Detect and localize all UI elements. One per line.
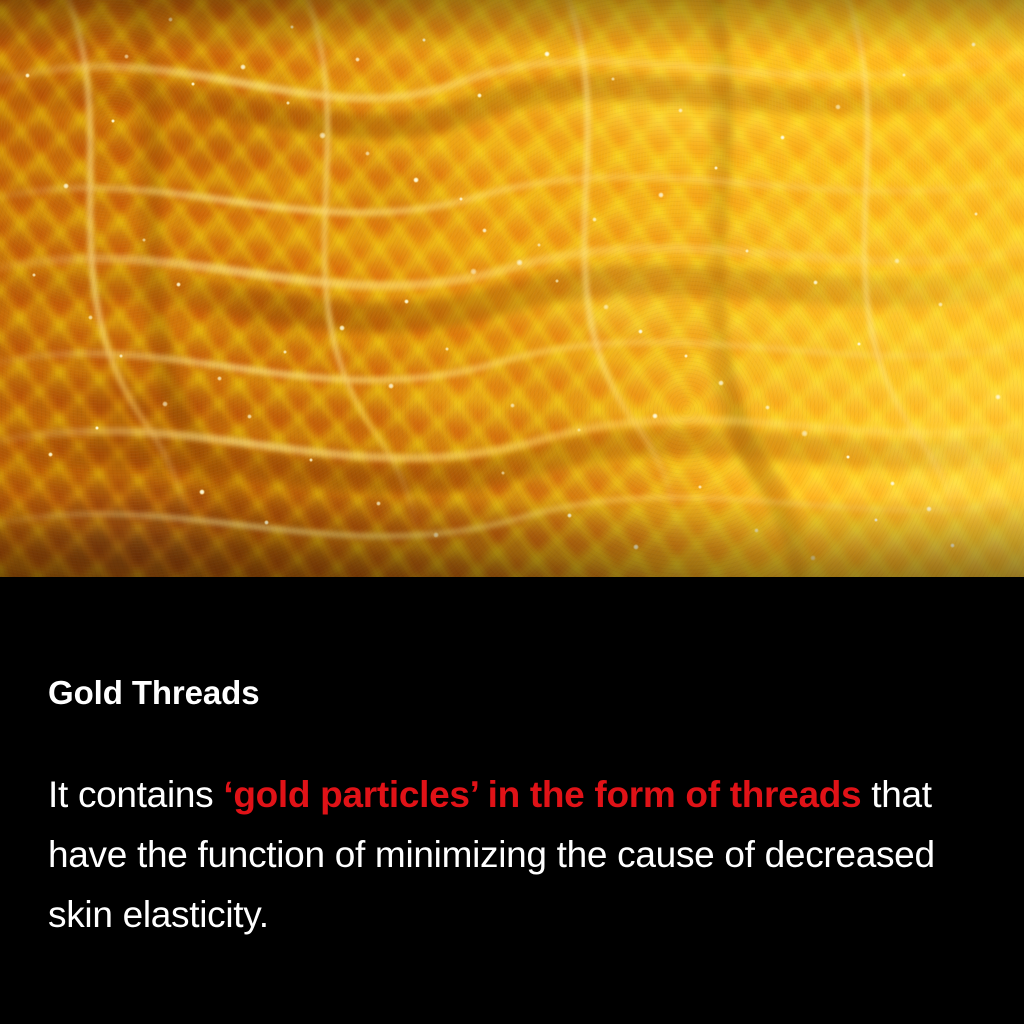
description-lead: It contains bbox=[48, 774, 223, 815]
description-highlight: ‘gold particles’ in the form of threads bbox=[223, 774, 861, 815]
hero-vignette bbox=[0, 0, 1024, 577]
ingredient-info-card: Gold Threads It contains ‘gold particles… bbox=[0, 0, 1024, 1024]
page-title: Gold Threads bbox=[48, 676, 260, 709]
gold-threads-macro-photo bbox=[0, 0, 1024, 577]
description-text: It contains ‘gold particles’ in the form… bbox=[48, 765, 998, 945]
caption-panel: Gold Threads It contains ‘gold particles… bbox=[0, 577, 1024, 1024]
